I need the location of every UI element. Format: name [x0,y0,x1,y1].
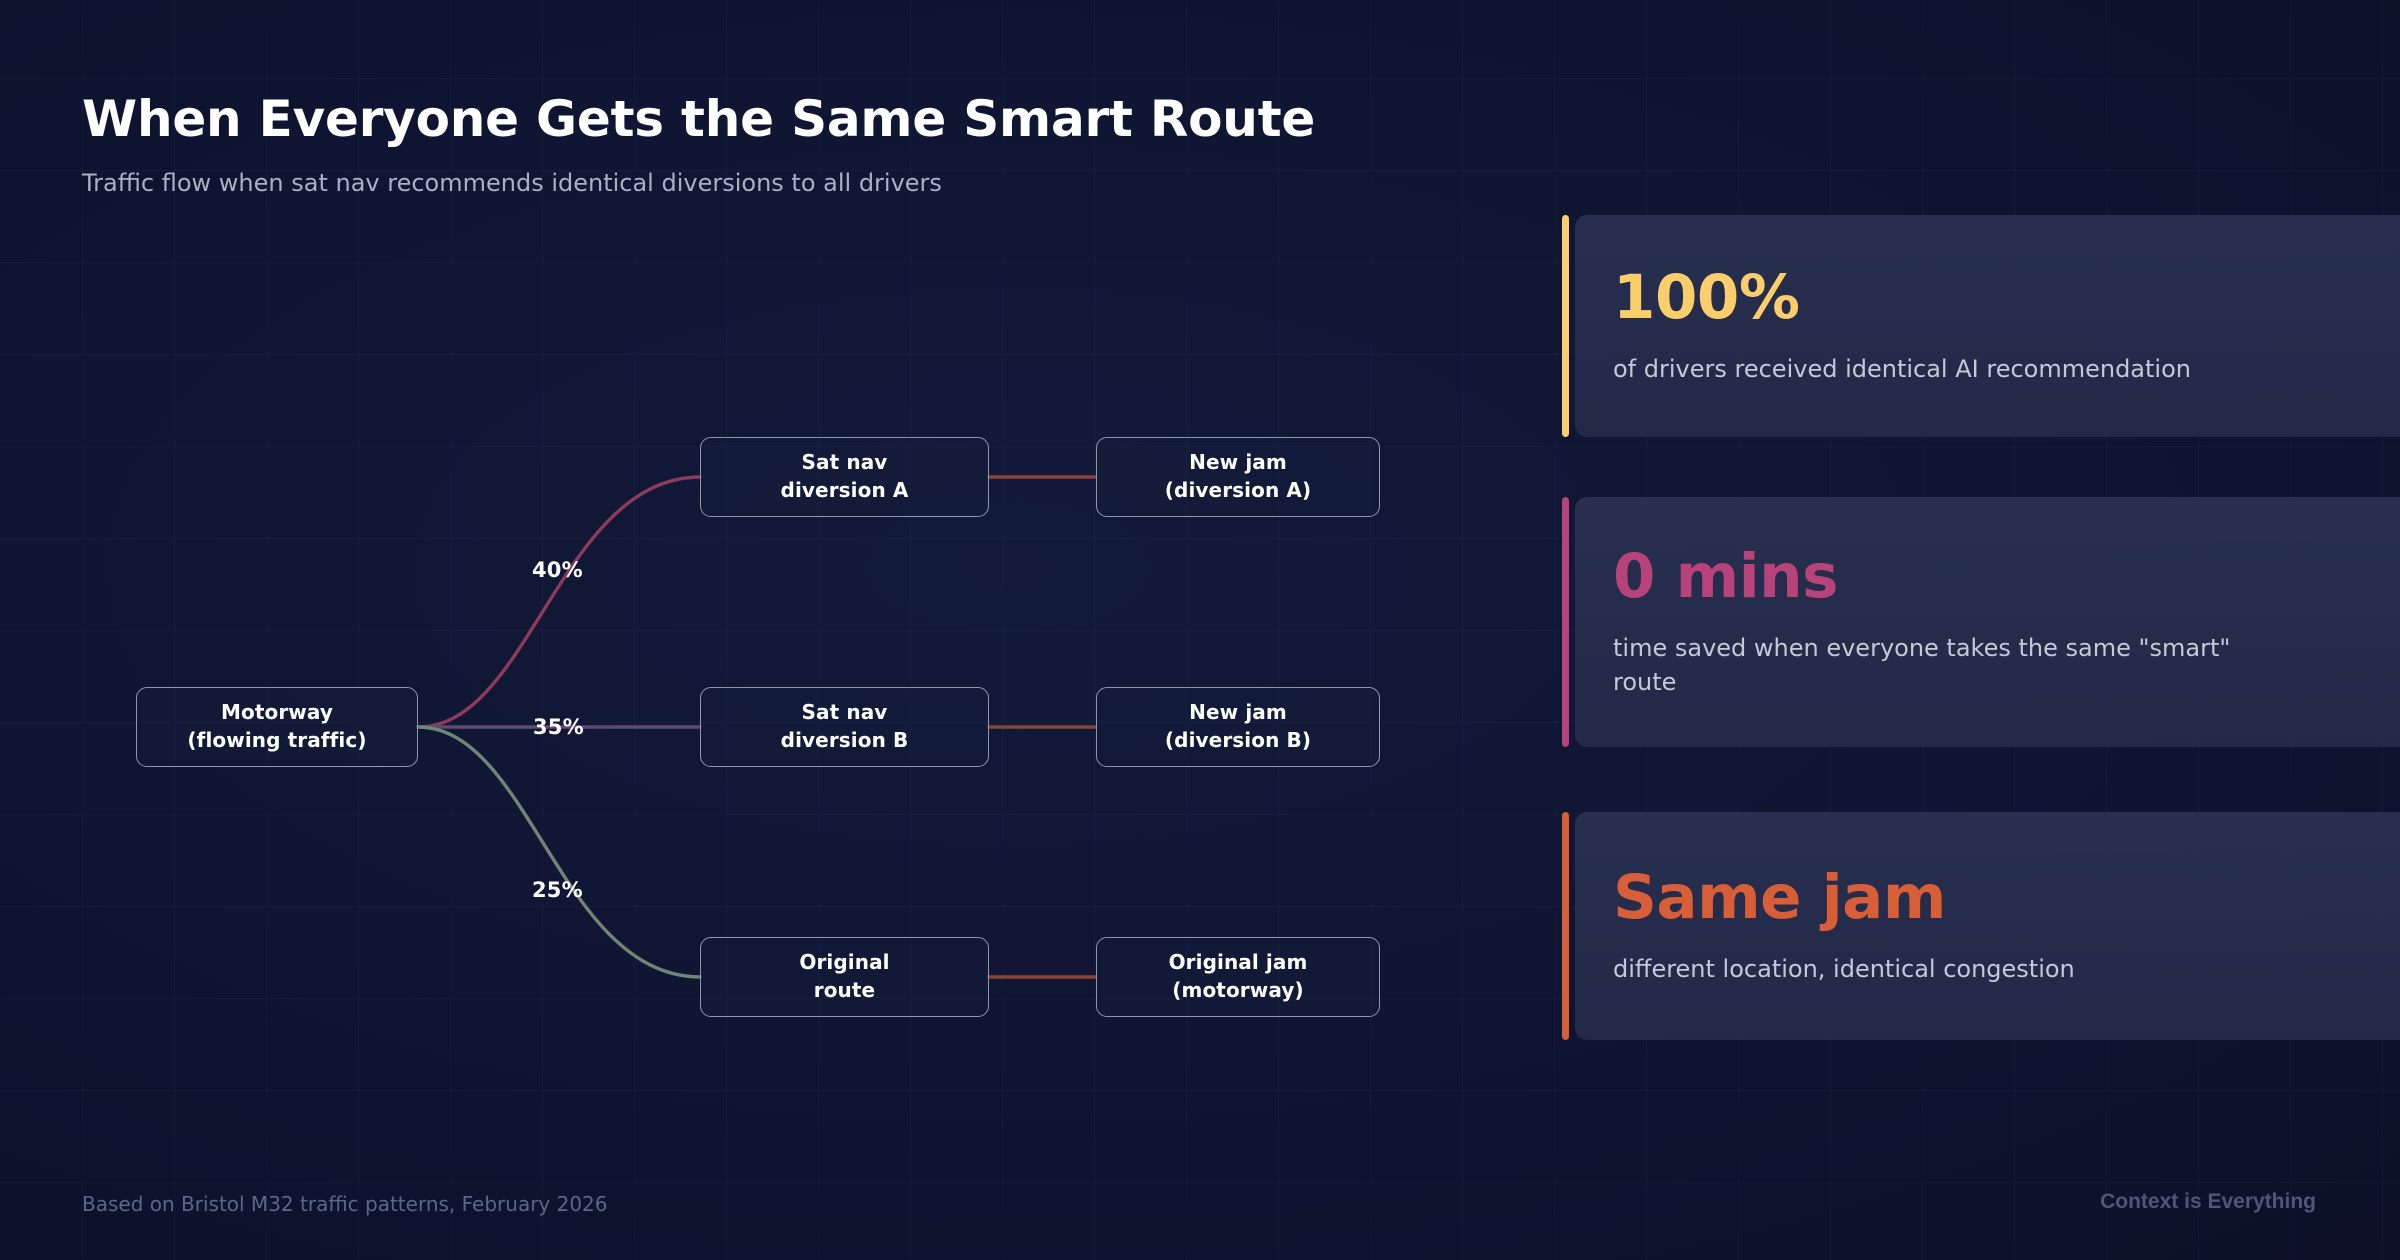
stat-card-accent-bar [1562,497,1569,747]
flow-label-25: 25% [532,878,583,902]
stat-card-same-jam[interactable]: Same jam different location, identical c… [1562,812,2400,1040]
node-motorway[interactable]: Motorway (flowing traffic) [136,687,418,767]
flow-diagram: Motorway (flowing traffic) Sat nav diver… [0,0,1560,1260]
footer-brand: Context is Everything [2100,1190,2316,1214]
stat-card-body: Same jam different location, identical c… [1575,812,2400,1040]
stat-value: 100% [1613,266,2384,330]
node-new-jam-b-line1: New jam [1189,700,1287,724]
stat-card-drivers[interactable]: 100% of drivers received identical AI re… [1562,215,2400,437]
stat-card-time-saved[interactable]: 0 mins time saved when everyone takes th… [1562,497,2400,747]
node-diversion-a-line1: Sat nav [802,450,888,474]
flow-links [0,0,1560,1260]
link-path-25 [418,727,700,977]
node-motorway-line1: Motorway [221,700,333,724]
node-motorway-line2: (flowing traffic) [187,728,366,752]
node-new-jam-a-line1: New jam [1189,450,1287,474]
stat-label: time saved when everyone takes the same … [1613,631,2293,699]
footer-source: Based on Bristol M32 traffic patterns, F… [82,1192,608,1216]
stat-card-body: 100% of drivers received identical AI re… [1575,215,2400,437]
stat-card-body: 0 mins time saved when everyone takes th… [1575,497,2400,747]
node-new-jam-b[interactable]: New jam (diversion B) [1096,687,1380,767]
stat-label: different location, identical congestion [1613,952,2293,986]
stat-value: 0 mins [1613,545,2384,609]
flow-label-40: 40% [532,558,583,582]
node-new-jam-a[interactable]: New jam (diversion A) [1096,437,1380,517]
node-original-route-line2: route [814,978,875,1002]
link-path-40 [418,477,700,727]
node-original-route[interactable]: Original route [700,937,989,1017]
infographic-root: When Everyone Gets the Same Smart Route … [0,0,2400,1260]
stat-card-accent-bar [1562,812,1569,1040]
stat-cards: 100% of drivers received identical AI re… [1562,0,2400,1260]
node-diversion-a-line2: diversion A [781,478,909,502]
node-new-jam-b-line2: (diversion B) [1165,728,1311,752]
node-diversion-b[interactable]: Sat nav diversion B [700,687,989,767]
node-original-jam-line2: (motorway) [1172,978,1303,1002]
stat-card-accent-bar [1562,215,1569,437]
node-diversion-a[interactable]: Sat nav diversion A [700,437,989,517]
node-diversion-b-line2: diversion B [781,728,909,752]
node-original-jam-line1: Original jam [1169,950,1308,974]
stat-label: of drivers received identical AI recomme… [1613,352,2293,386]
node-diversion-b-line1: Sat nav [802,700,888,724]
node-original-route-line1: Original [799,950,889,974]
node-original-jam[interactable]: Original jam (motorway) [1096,937,1380,1017]
node-new-jam-a-line2: (diversion A) [1165,478,1311,502]
stat-value: Same jam [1613,866,2384,930]
flow-label-35: 35% [533,715,584,739]
